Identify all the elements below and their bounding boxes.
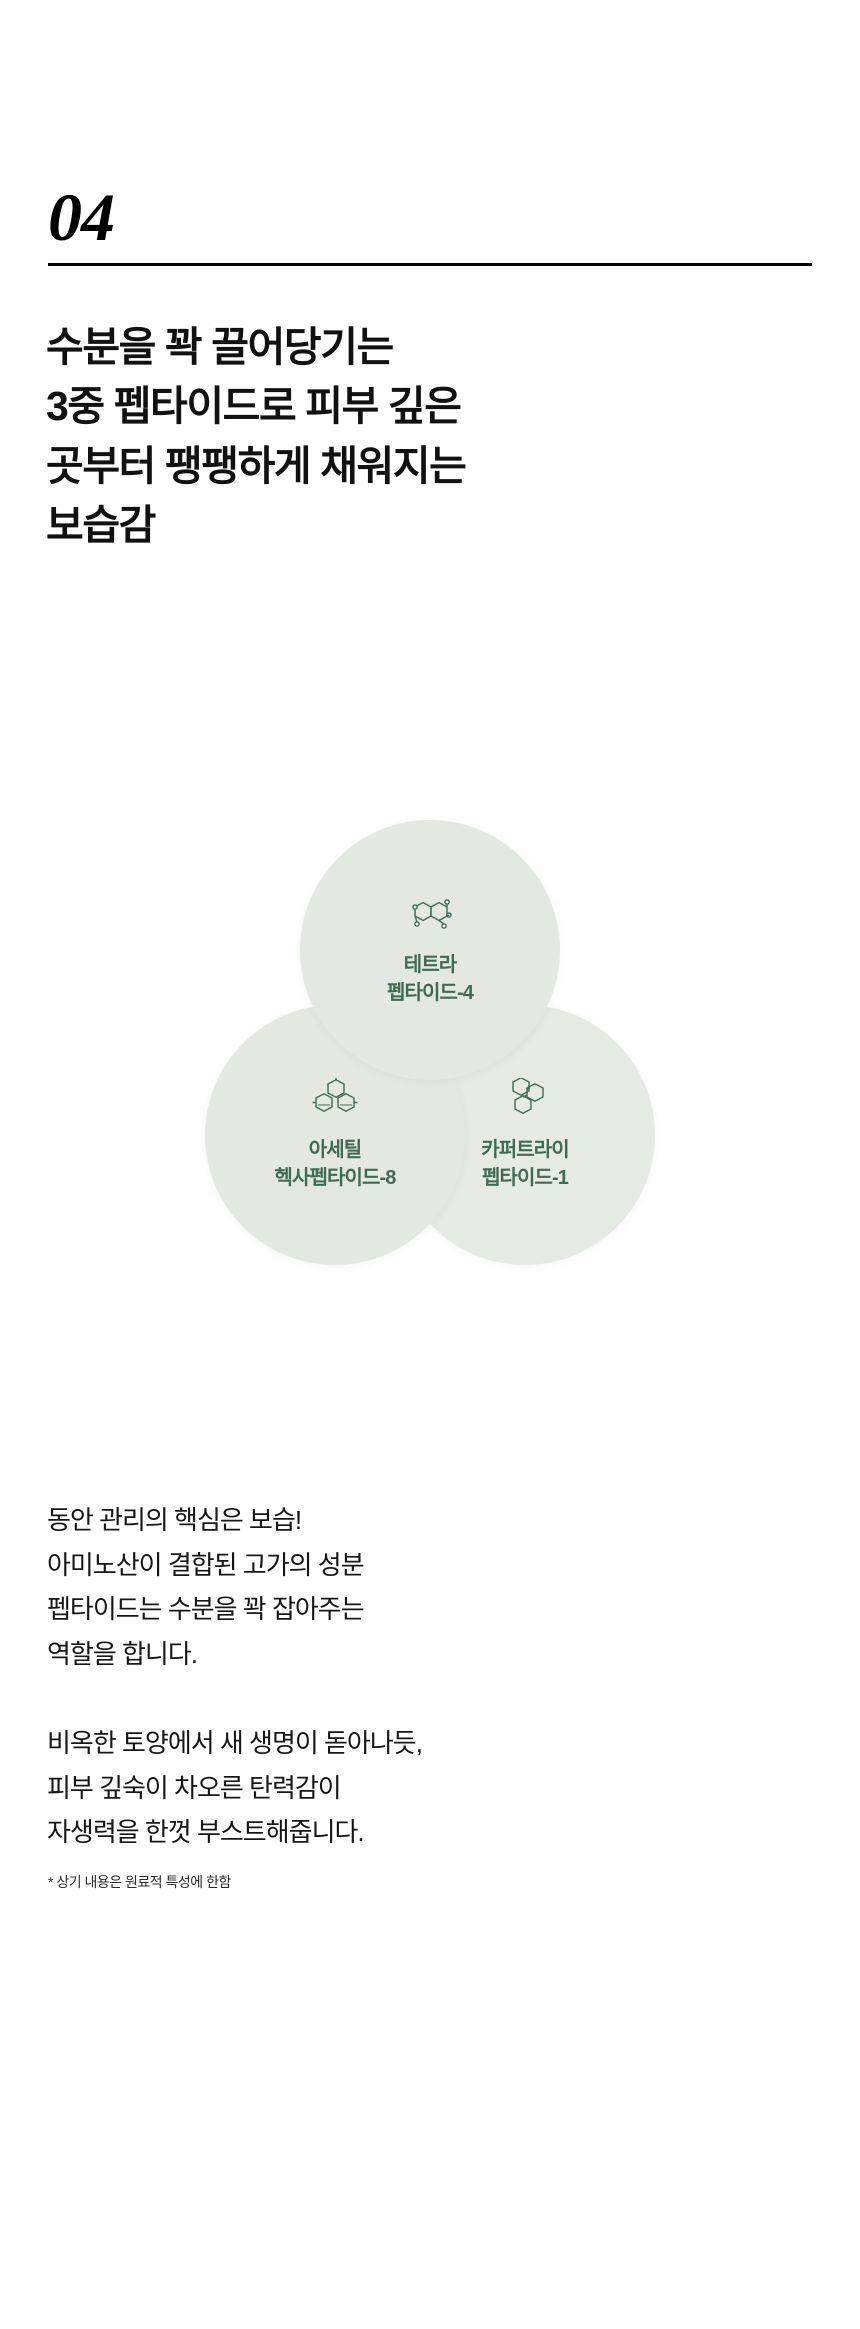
venn-circle-label: 카퍼트라이 펩타이드-1 bbox=[481, 1136, 569, 1193]
body-paragraph-1: 동안 관리의 핵심은 보습! 아미노산이 결합된 고가의 성분 펩타이드는 수분… bbox=[47, 1498, 827, 1677]
venn-circle-tetrapeptide: 테트라 펩타이드-4 bbox=[300, 820, 560, 1080]
venn-circle-label: 테트라 펩타이드-4 bbox=[387, 951, 473, 1008]
ingredient-venn-diagram: 테트라 펩타이드-4 아세틸 헥사펩타이드-8 bbox=[0, 820, 860, 1260]
disclaimer-footnote: * 상기 내용은 원료적 특성에 한함 bbox=[48, 1872, 231, 1892]
section-divider bbox=[48, 263, 812, 266]
venn-circle-label: 아세틸 헥사펩타이드-8 bbox=[275, 1136, 396, 1193]
product-detail-page: 04 수분을 꽉 끌어당기는 3중 펩타이드로 피부 깊은 곳부터 팽팽하게 채… bbox=[0, 0, 860, 2329]
molecule-double-hexagon-icon bbox=[406, 893, 454, 939]
body-copy: 동안 관리의 핵심은 보습! 아미노산이 결합된 고가의 성분 펩타이드는 수분… bbox=[47, 1498, 827, 1855]
section-header: 04 bbox=[48, 186, 812, 266]
molecule-triple-hexagon-icon bbox=[311, 1078, 359, 1124]
body-paragraph-2: 비옥한 토양에서 새 생명이 돋아나듯, 피부 깊숙이 차오른 탄력감이 자생력… bbox=[47, 1721, 827, 1855]
molecule-stacked-hexagon-icon bbox=[501, 1078, 549, 1124]
section-number: 04 bbox=[48, 186, 812, 249]
venn-stage: 테트라 펩타이드-4 아세틸 헥사펩타이드-8 bbox=[205, 820, 655, 1260]
page-title: 수분을 꽉 끌어당기는 3중 펩타이드로 피부 깊은 곳부터 팽팽하게 채워지는… bbox=[46, 318, 826, 556]
